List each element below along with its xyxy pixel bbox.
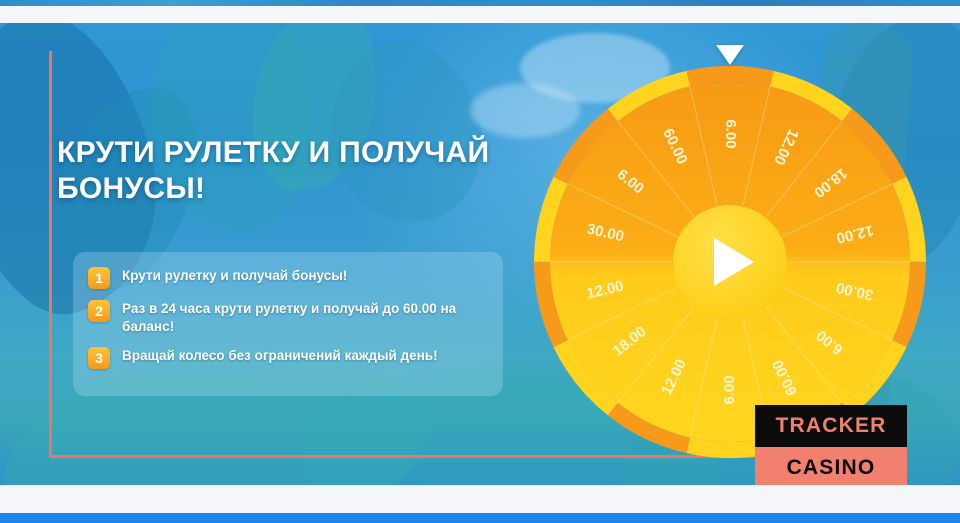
casino-logo-badge: TRACKER CASINO [755, 405, 907, 485]
promo-frame-corner [49, 51, 52, 57]
top-white-band [0, 6, 960, 23]
background-foliage-shape [304, 23, 507, 243]
background-foliage-shape [134, 23, 326, 243]
bottom-blue-band [0, 513, 960, 523]
step-number-badge: 3 [88, 347, 110, 369]
logo-line-2: CASINO [787, 456, 876, 480]
logo-top-bar: TRACKER [755, 405, 907, 447]
prize-wheel-graphic[interactable]: 6.0012.0018.0012.0030.006.0060.006.0012.… [530, 62, 930, 462]
logo-bottom-bar: CASINO [755, 447, 907, 485]
step-number-badge: 1 [88, 267, 110, 289]
prize-wheel[interactable]: 6.0012.0018.0012.0030.006.0060.006.0012.… [530, 62, 930, 462]
list-item: 3 Вращай колесо без ограничений каждый д… [88, 347, 508, 369]
step-text: Крути рулетку и получай бонусы! [122, 267, 347, 285]
step-text: Раз в 24 часа крути рулетку и получай до… [122, 300, 472, 336]
step-text: Вращай колесо без ограничений каждый ден… [122, 347, 438, 365]
wheel-segment-label: 6.00 [722, 119, 739, 148]
list-item: 1 Крути рулетку и получай бонусы! [88, 267, 508, 289]
page-title: КРУТИ РУЛЕТКУ И ПОЛУЧАЙ БОНУСЫ! [57, 135, 527, 207]
steps-list: 1 Крути рулетку и получай бонусы! 2 Раз … [88, 267, 508, 380]
bottom-white-band [0, 485, 960, 513]
promo-banner-screenshot: КРУТИ РУЛЕТКУ И ПОЛУЧАЙ БОНУСЫ! 1 Крути … [0, 0, 960, 523]
list-item: 2 Раз в 24 часа крути рулетку и получай … [88, 300, 508, 336]
logo-line-1: TRACKER [775, 414, 886, 438]
promo-banner: КРУТИ РУЛЕТКУ И ПОЛУЧАЙ БОНУСЫ! 1 Крути … [0, 23, 960, 485]
triangle-down-pointer-icon [716, 45, 744, 65]
wheel-segment-label: 6.00 [721, 375, 738, 404]
step-number-badge: 2 [88, 300, 110, 322]
